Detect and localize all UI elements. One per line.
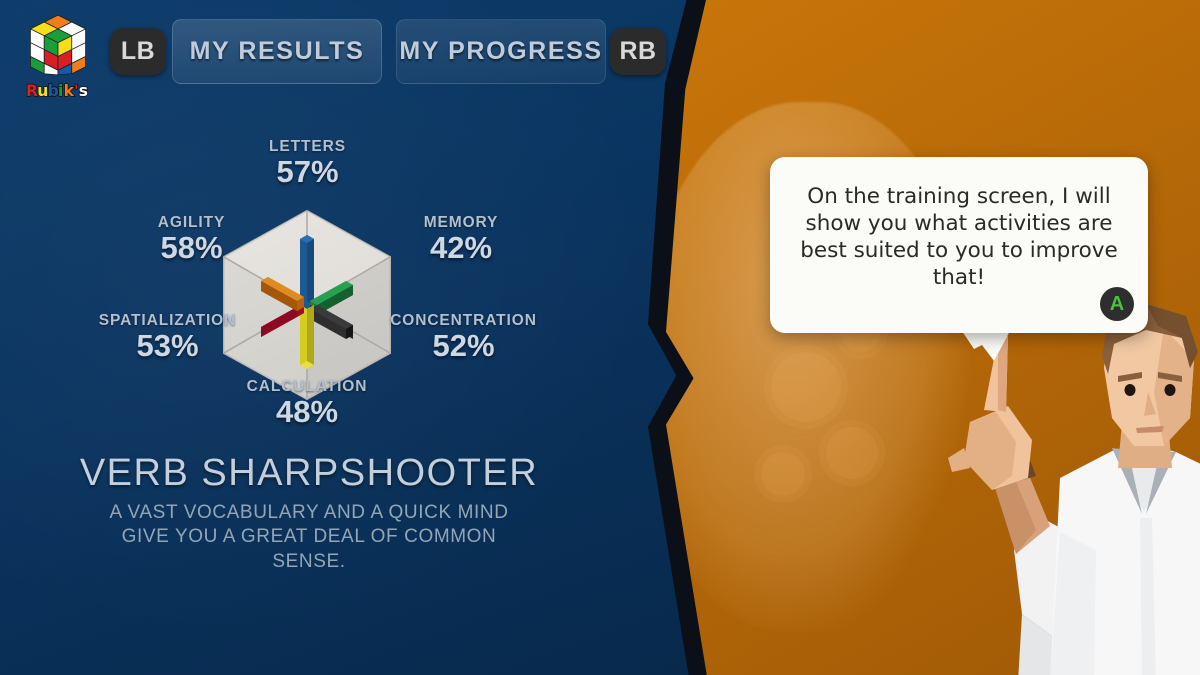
profile-description: A VAST VOCABULARY AND A QUICK MIND GIVE … bbox=[0, 501, 618, 574]
rubiks-logo: R u b i k ' s bbox=[22, 14, 94, 106]
svg-text:b: b bbox=[48, 82, 59, 100]
a-confirm-button[interactable]: A bbox=[1100, 287, 1134, 321]
tab-my-progress[interactable]: MY PROGRESS bbox=[396, 19, 606, 84]
speech-bubble-text: On the training screen, I will show you … bbox=[770, 157, 1148, 291]
profile-summary: VERB SHARPSHOOTER A VAST VOCABULARY AND … bbox=[0, 452, 618, 574]
stat-concentration: CONCENTRATION 52% bbox=[376, 312, 551, 363]
svg-text:s: s bbox=[79, 82, 88, 100]
stat-value: 42% bbox=[386, 232, 536, 265]
left-bumper-button[interactable]: LB bbox=[110, 28, 166, 75]
right-bumper-button[interactable]: RB bbox=[610, 28, 666, 75]
stat-value: 52% bbox=[376, 330, 551, 363]
tab-my-results[interactable]: MY RESULTS bbox=[172, 19, 382, 84]
svg-text:k: k bbox=[64, 82, 75, 100]
stat-value: 57% bbox=[235, 156, 380, 189]
svg-text:i: i bbox=[58, 82, 63, 100]
stat-calculation: CALCULATION 48% bbox=[232, 378, 382, 429]
stat-agility: AGILITY 58% bbox=[120, 214, 263, 265]
coach-character bbox=[846, 282, 1200, 675]
stat-letters: LETTERS 57% bbox=[235, 138, 380, 189]
stat-value: 53% bbox=[85, 330, 250, 363]
gear-icon bbox=[761, 452, 805, 496]
stat-memory: MEMORY 42% bbox=[386, 214, 536, 265]
stat-value: 58% bbox=[120, 232, 263, 265]
svg-text:R: R bbox=[26, 82, 38, 100]
speech-bubble[interactable]: On the training screen, I will show you … bbox=[770, 157, 1148, 333]
gear-icon bbox=[771, 352, 841, 422]
game-screen: R u b i k ' s LB MY RESULTS MY PROGRESS … bbox=[0, 0, 1200, 675]
panel-inner bbox=[666, 0, 1200, 675]
svg-text:': ' bbox=[74, 82, 79, 100]
rubiks-cube-icon bbox=[29, 14, 87, 76]
profile-title: VERB SHARPSHOOTER bbox=[0, 452, 618, 495]
skills-chart: LETTERS 57% MEMORY 42% CONCENTRATION 52%… bbox=[0, 120, 660, 450]
speech-bubble-tail bbox=[960, 331, 1012, 361]
stat-value: 48% bbox=[232, 396, 382, 429]
rubiks-wordmark: R u b i k ' s bbox=[25, 80, 91, 102]
bar-calculation bbox=[300, 305, 314, 369]
header-bar: R u b i k ' s LB MY RESULTS MY PROGRESS … bbox=[0, 0, 700, 108]
coach-panel bbox=[640, 0, 1200, 675]
stat-spatialization: SPATIALIZATION 53% bbox=[85, 312, 250, 363]
svg-text:u: u bbox=[37, 82, 48, 100]
